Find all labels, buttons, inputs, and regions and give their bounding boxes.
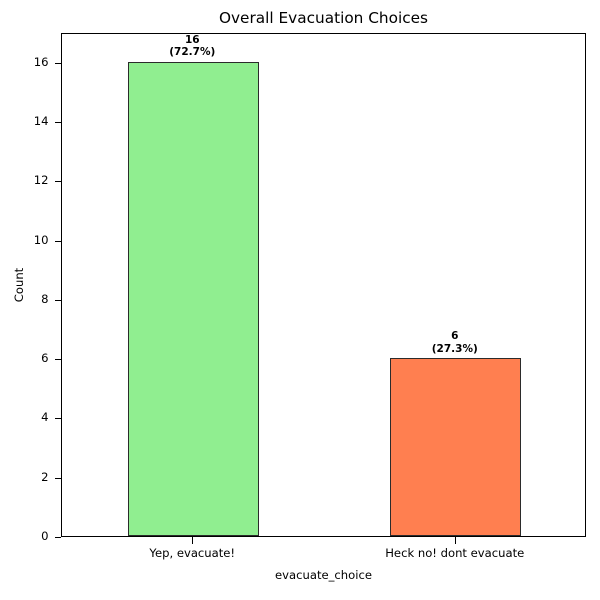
y-tick-label: 4 [41, 411, 48, 424]
y-tick-label: 8 [41, 293, 48, 306]
chart-title: Overall Evacuation Choices [61, 9, 586, 27]
y-tick-mark [55, 537, 62, 538]
bar-count-text: 6 [365, 330, 545, 342]
y-tick-label: 12 [34, 174, 49, 187]
y-tick-label: 6 [41, 352, 48, 365]
y-tick-label: 2 [41, 471, 48, 484]
y-tick-label: 16 [34, 56, 49, 69]
bar-value-label: 16 (72.7%) [102, 34, 282, 59]
y-tick-mark [55, 359, 62, 360]
bar-chart-figure: Overall Evacuation Choices 16 (72.7%) 6 … [0, 0, 600, 600]
bar-heck-no-dont-evacuate[interactable] [390, 358, 521, 536]
y-tick-label: 14 [34, 115, 49, 128]
y-tick-mark [55, 300, 62, 301]
y-axis-label: Count [12, 235, 26, 335]
y-tick-mark [55, 418, 62, 419]
y-tick-label: 0 [41, 530, 48, 543]
bar-value-label: 6 (27.3%) [365, 330, 545, 355]
x-tick-label: Yep, evacuate! [62, 546, 322, 560]
x-tick-mark [455, 537, 456, 544]
x-tick-label: Heck no! dont evacuate [325, 546, 585, 560]
y-tick-mark [55, 63, 62, 64]
bar-count-text: 16 [102, 34, 282, 46]
y-tick-mark [55, 478, 62, 479]
bar-percent-text: (72.7%) [102, 46, 282, 58]
y-tick-mark [55, 241, 62, 242]
y-tick-mark [55, 122, 62, 123]
x-axis-label: evacuate_choice [61, 568, 586, 582]
plot-area [61, 33, 586, 537]
y-tick-mark [55, 181, 62, 182]
bar-yep-evacuate[interactable] [128, 62, 259, 536]
bar-percent-text: (27.3%) [365, 343, 545, 355]
x-tick-mark [192, 537, 193, 544]
y-tick-label: 10 [34, 234, 49, 247]
